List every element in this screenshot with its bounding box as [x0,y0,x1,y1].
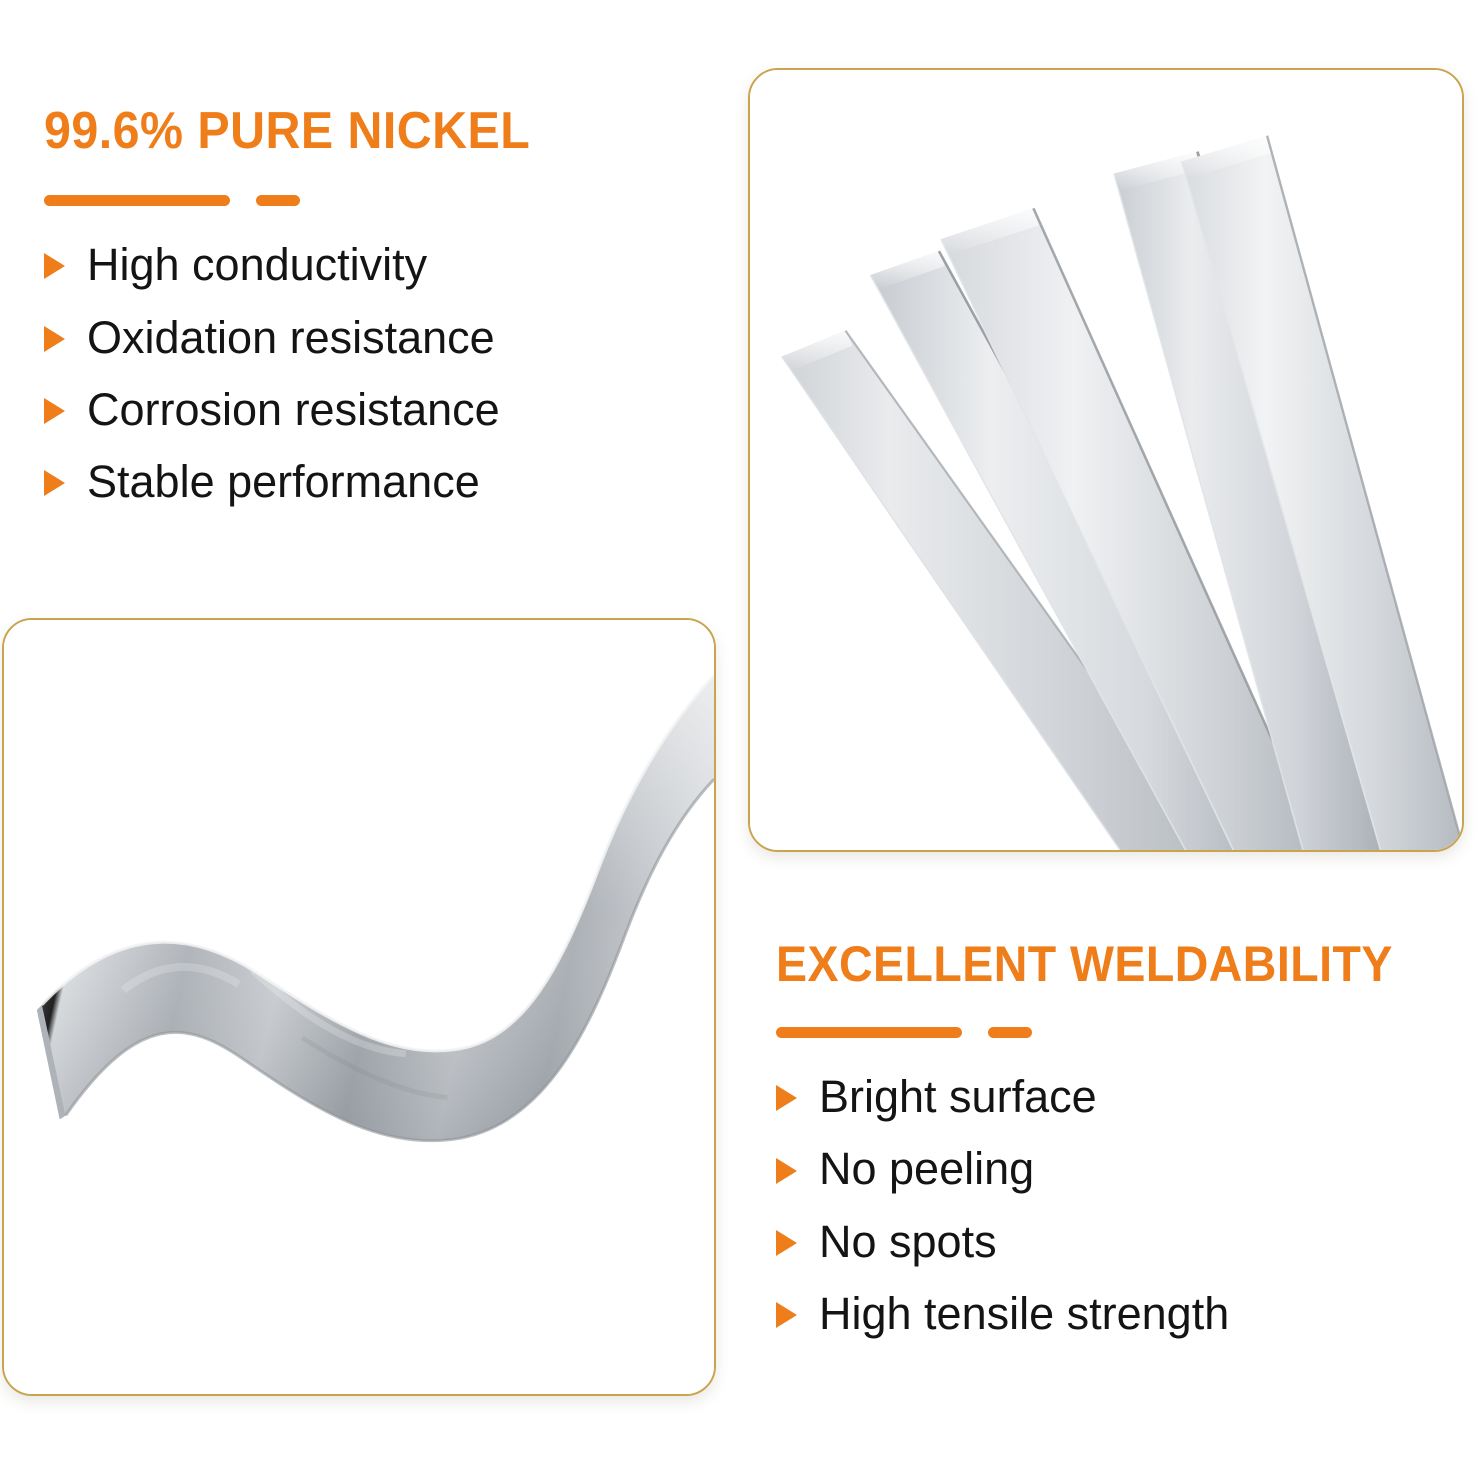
feature-label: No spots [819,1217,997,1267]
feature-label: Oxidation resistance [87,313,495,363]
weldability-dash-divider-icon [776,1027,1456,1038]
weldability-heading: EXCELLENT WELDABILITY [776,938,1408,991]
weldability-feature-block: EXCELLENT WELDABILITY Bright surface No … [776,938,1456,1340]
triangle-right-icon [776,1085,797,1111]
purity-feature-block: 99.6% PURE NICKEL High conductivity Oxid… [44,104,684,508]
triangle-right-icon [776,1302,797,1328]
feature-label: High tensile strength [819,1289,1229,1339]
bent-nickel-strip-photo [4,620,714,1394]
triangle-right-icon [44,326,65,352]
divider-bar-short [256,195,300,206]
triangle-right-icon [776,1230,797,1256]
divider-bar-short [988,1027,1032,1038]
triangle-right-icon [776,1158,797,1184]
weldability-feature-list: Bright surface No peeling No spots High … [776,1072,1456,1340]
divider-bar-long [44,195,230,206]
feature-label: No peeling [819,1144,1034,1194]
feature-label: Bright surface [819,1072,1097,1122]
triangle-right-icon [44,398,65,424]
divider-bar-long [776,1027,962,1038]
list-item: Oxidation resistance [44,313,684,363]
list-item: Bright surface [776,1072,1456,1122]
list-item: No spots [776,1217,1456,1267]
triangle-right-icon [44,470,65,496]
purity-feature-list: High conductivity Oxidation resistance C… [44,240,684,508]
list-item: High tensile strength [776,1289,1456,1339]
feature-label: High conductivity [87,240,427,290]
list-item: Corrosion resistance [44,385,684,435]
bent-nickel-strip-panel [2,618,716,1396]
nickel-strips-fan-photo [750,70,1462,850]
feature-label: Corrosion resistance [87,385,500,435]
list-item: No peeling [776,1144,1456,1194]
triangle-right-icon [44,253,65,279]
feature-label: Stable performance [87,457,480,507]
purity-dash-divider-icon [44,195,684,206]
list-item: Stable performance [44,457,684,507]
nickel-strips-panel [748,68,1464,852]
purity-heading: 99.6% PURE NICKEL [44,104,639,159]
list-item: High conductivity [44,240,684,290]
